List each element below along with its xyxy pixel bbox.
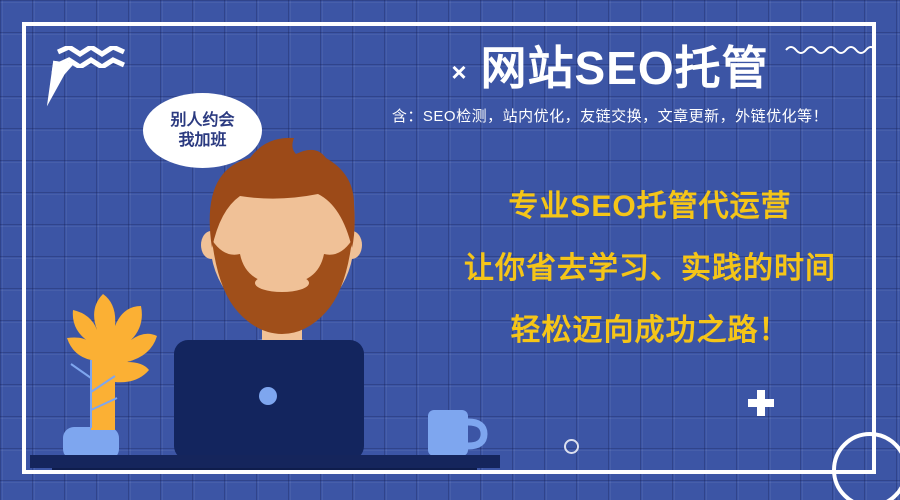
speech-bubble: 别人约会 我加班 [143,93,262,168]
plant-leaf-shape [67,294,157,430]
slogan-line: 让你省去学习、实践的时间 [415,254,885,284]
headline-subtitle: 含：SEO检测，站内优化，友链交换，文章更新，外链优化等！ [330,105,890,126]
small-circle-icon [564,439,579,454]
speech-bubble-text: 别人约会 我加班 [143,93,262,168]
mouth-shape [255,274,309,292]
speech-bubble-line-2: 我加班 [178,131,226,151]
laptop-logo-shape [259,387,277,405]
slogan-line: 轻松迈向成功之路！ [415,316,885,346]
slogan-block: 专业SEO托管代运营 让你省去学习、实践的时间 轻松迈向成功之路！ [415,192,885,346]
wave-lines-icon [57,46,125,68]
speech-bubble-line-1: 别人约会 [170,111,234,131]
plus-icon [748,390,774,416]
page-title: 网站SEO托管 [481,44,769,92]
headline-block: × 网站SEO托管 含：SEO检测，站内优化，友链交换，文章更新，外链优化等！ [330,44,890,126]
mug-body-shape [428,410,468,456]
slogan-line: 专业SEO托管代运营 [415,192,885,222]
mug-handle-shape [468,422,484,446]
squiggle-icon [785,44,875,56]
close-x-icon: × [451,59,466,85]
desk-edge [52,468,477,474]
seo-promo-banner: 别人约会 我加班 × 网站SEO托管 含：SEO检测，站内优化，友链交换，文章更… [0,0,900,500]
desk-surface [30,455,500,468]
circle-outline-icon [832,432,900,500]
